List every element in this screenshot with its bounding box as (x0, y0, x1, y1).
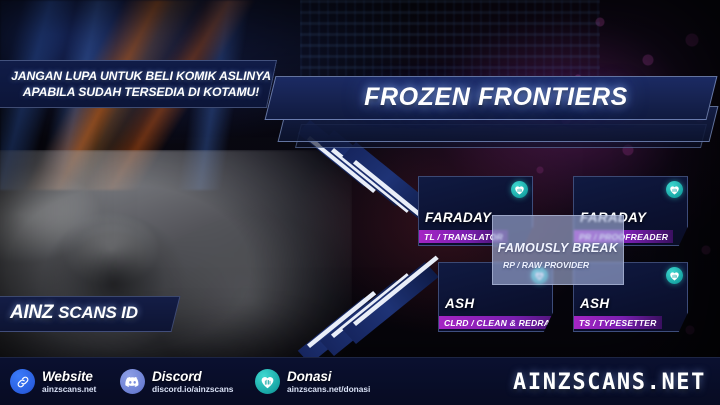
social-label: Website (42, 370, 96, 384)
heart-hand-icon (666, 181, 683, 198)
logo-text-secondary: SCANS ID (58, 303, 138, 323)
discord-icon (120, 369, 145, 394)
credit-page: JANGAN LUPA UNTUK BELI KOMIK ASLINYA APA… (0, 0, 720, 405)
overlay-credit-role: RP / RAW PROVIDER (503, 260, 589, 270)
social-handle: discord.io/ainzscans (152, 385, 233, 393)
social-link-donasi[interactable]: Donasi ainzscans.net/donasi (255, 369, 370, 394)
scan-group-logo: AINZ SCANS ID (10, 298, 190, 328)
overlay-credit-card: FAMOUSLY BREAK RP / RAW PROVIDER (492, 215, 624, 285)
footer-bar: Website ainzscans.net Discord discord.io… (0, 357, 720, 405)
social-handle: ainzscans.net/donasi (287, 385, 370, 393)
social-link-discord[interactable]: Discord discord.io/ainzscans (120, 369, 233, 394)
credit-name: FARADAY (425, 210, 491, 225)
heart-hand-icon (666, 267, 683, 284)
series-title-banner: FROZEN FRONTIERS (240, 72, 720, 154)
credit-role-tag: TS / TYPESETTER (574, 316, 662, 329)
heart-hand-icon (255, 369, 280, 394)
notice-line-2: APABILA SUDAH TERSEDIA DI KOTAMU! (23, 85, 259, 100)
overlay-credit-name: FAMOUSLY BREAK (493, 241, 623, 255)
credit-name: ASH (445, 296, 474, 311)
page-title: FROZEN FRONTIERS (306, 83, 686, 112)
social-handle: ainzscans.net (42, 385, 96, 393)
link-icon (10, 369, 35, 394)
social-link-website[interactable]: Website ainzscans.net (10, 369, 96, 394)
social-label: Discord (152, 370, 233, 384)
credit-name: ASH (580, 296, 609, 311)
heart-hand-icon (511, 181, 528, 198)
logo-text-primary: AINZ (10, 302, 53, 324)
notice-line-1: JANGAN LUPA UNTUK BELI KOMIK ASLINYA (11, 69, 271, 84)
social-label: Donasi (287, 370, 370, 384)
site-brand-url: AINZSCANS.NET (513, 370, 706, 395)
